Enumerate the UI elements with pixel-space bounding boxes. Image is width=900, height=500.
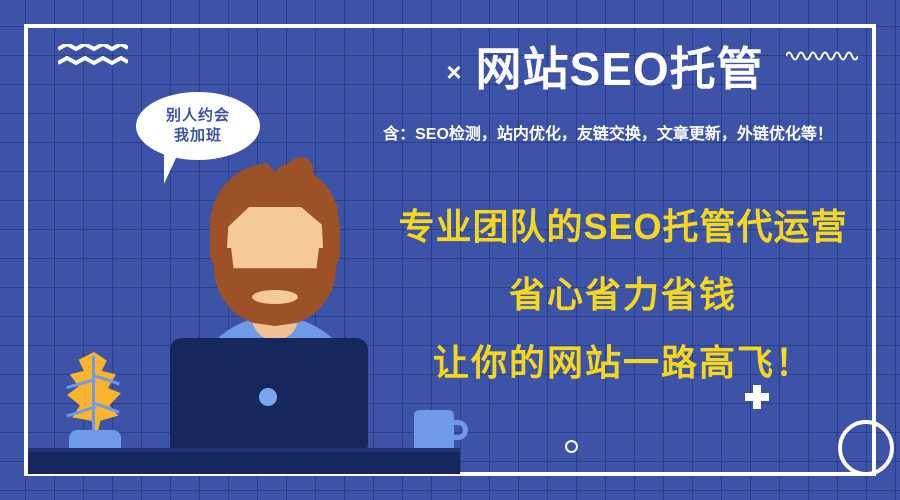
hair-tuft: [281, 155, 315, 193]
seo-promo-poster: × 网站SEO托管 含：SEO检测，站内优化，友链交换，文章更新，外链优化等！ …: [0, 0, 900, 500]
small-circle-outline-icon: [565, 440, 578, 453]
page-title: 网站SEO托管: [476, 44, 764, 95]
mouth: [252, 290, 298, 304]
laptop-logo-icon: [259, 388, 277, 406]
plus-icon: [745, 385, 769, 409]
speech-bubble: 别人约会 我加班: [136, 92, 260, 160]
speech-bubble-line-2: 我加班: [174, 126, 222, 146]
speech-bubble-line-1: 别人约会: [166, 106, 230, 126]
plant-leaf-vein: [92, 356, 95, 436]
circle-outline-icon: [838, 420, 894, 476]
desk: [28, 452, 460, 474]
